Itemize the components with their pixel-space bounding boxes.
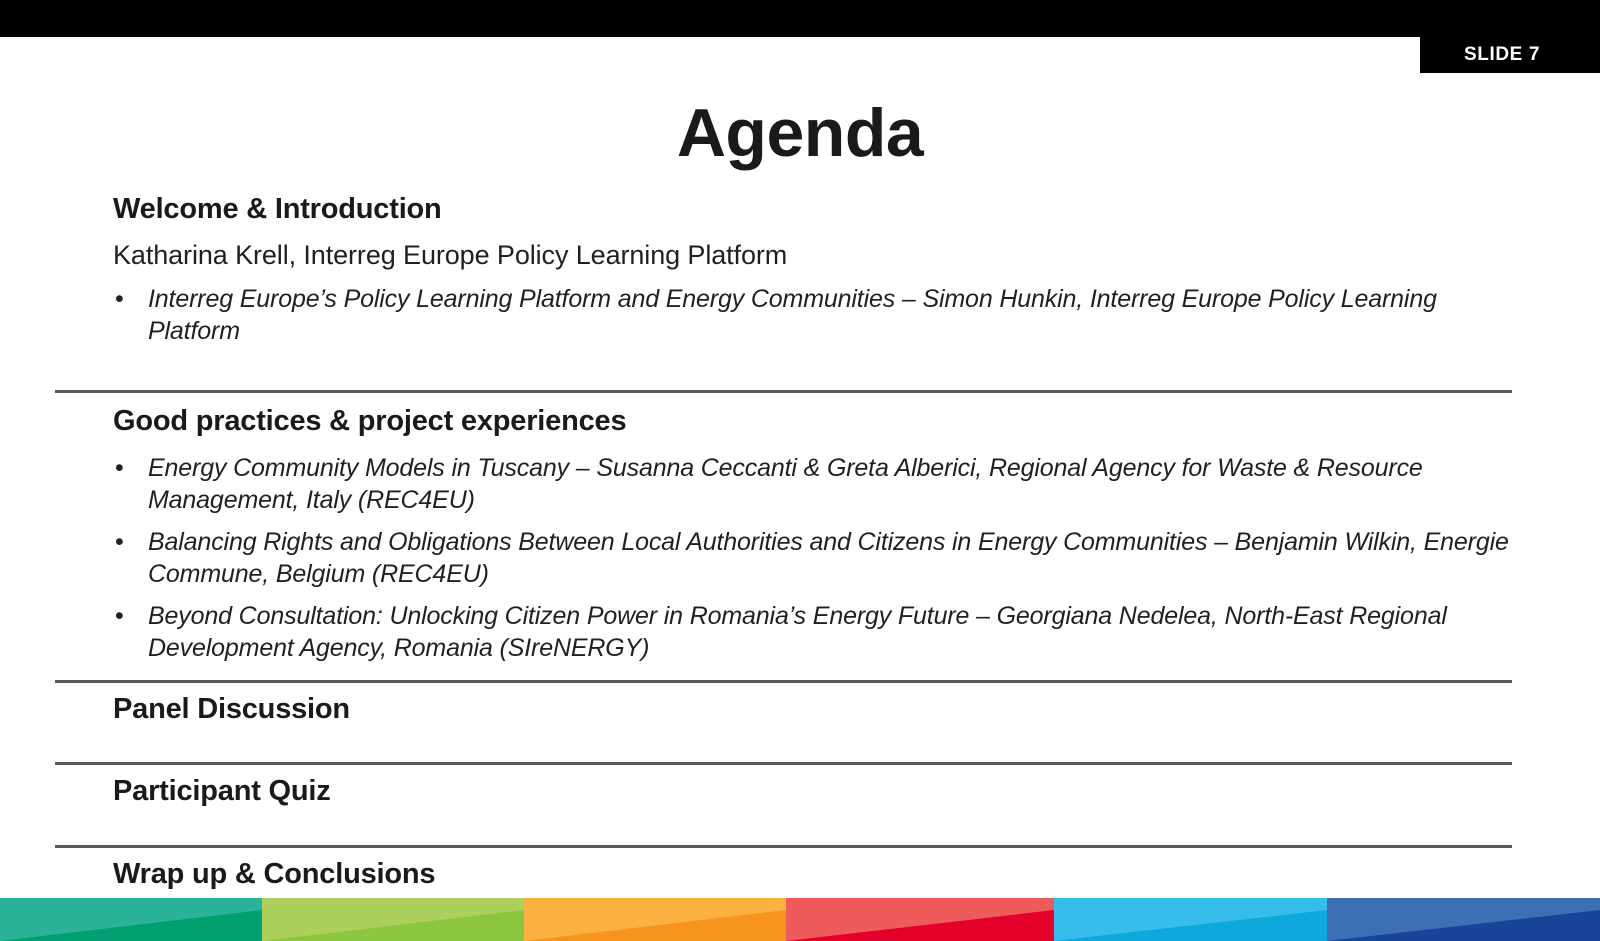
bullet-dot-icon: • xyxy=(115,283,124,315)
list-item-label: Energy Community Models in Tuscany – Sus… xyxy=(148,454,1423,514)
ribbon-segment-light-blue xyxy=(1054,898,1327,941)
list-item-label: Beyond Consultation: Unlocking Citizen P… xyxy=(148,602,1447,662)
agenda-section-participant-quiz: Participant Quiz xyxy=(0,774,1600,808)
bullet-dot-icon: • xyxy=(115,452,124,484)
agenda-section-welcome: Welcome & Introduction Katharina Krell, … xyxy=(0,192,1600,347)
section-heading: Panel Discussion xyxy=(113,692,1512,726)
list-item: • Energy Community Models in Tuscany – S… xyxy=(113,452,1512,516)
section-heading: Wrap up & Conclusions xyxy=(113,857,1512,891)
list-item: • Beyond Consultation: Unlocking Citizen… xyxy=(113,600,1512,664)
agenda-content: Welcome & Introduction Katharina Krell, … xyxy=(0,192,1600,932)
bullet-dot-icon: • xyxy=(115,600,124,632)
section-heading: Welcome & Introduction xyxy=(113,192,1512,226)
ribbon-segment-green xyxy=(262,898,524,941)
bullet-list: • Energy Community Models in Tuscany – S… xyxy=(113,452,1512,664)
slide-number-badge: SLIDE 7 xyxy=(1420,37,1600,73)
ribbon-segment-dark-blue xyxy=(1327,898,1600,941)
top-black-band xyxy=(0,0,1600,37)
section-divider xyxy=(55,762,1512,765)
footer-color-ribbon xyxy=(0,898,1600,941)
section-divider xyxy=(55,680,1512,683)
bullet-list: • Interreg Europe’s Policy Learning Plat… xyxy=(113,283,1512,347)
section-divider xyxy=(55,845,1512,848)
list-item-label: Interreg Europe’s Policy Learning Platfo… xyxy=(148,285,1437,345)
list-item: • Balancing Rights and Obligations Betwe… xyxy=(113,526,1512,590)
section-subtitle: Katharina Krell, Interreg Europe Policy … xyxy=(113,239,1512,271)
slide-agenda: SLIDE 7 Agenda Welcome & Introduction Ka… xyxy=(0,0,1600,941)
ribbon-segment-red xyxy=(786,898,1054,941)
list-item-label: Balancing Rights and Obligations Between… xyxy=(148,528,1509,588)
bullet-dot-icon: • xyxy=(115,526,124,558)
slide-number-label: SLIDE 7 xyxy=(1464,44,1556,66)
section-heading: Good practices & project experiences xyxy=(113,404,1512,438)
page-title: Agenda xyxy=(0,96,1600,170)
agenda-section-panel-discussion: Panel Discussion xyxy=(0,692,1600,726)
agenda-section-good-practices: Good practices & project experiences • E… xyxy=(0,404,1600,664)
ribbon-segment-orange xyxy=(524,898,786,941)
agenda-section-wrap-up: Wrap up & Conclusions xyxy=(0,857,1600,891)
section-heading: Participant Quiz xyxy=(113,774,1512,808)
section-divider xyxy=(55,390,1512,393)
ribbon-segment-teal xyxy=(0,898,262,941)
list-item: • Interreg Europe’s Policy Learning Plat… xyxy=(113,283,1512,347)
